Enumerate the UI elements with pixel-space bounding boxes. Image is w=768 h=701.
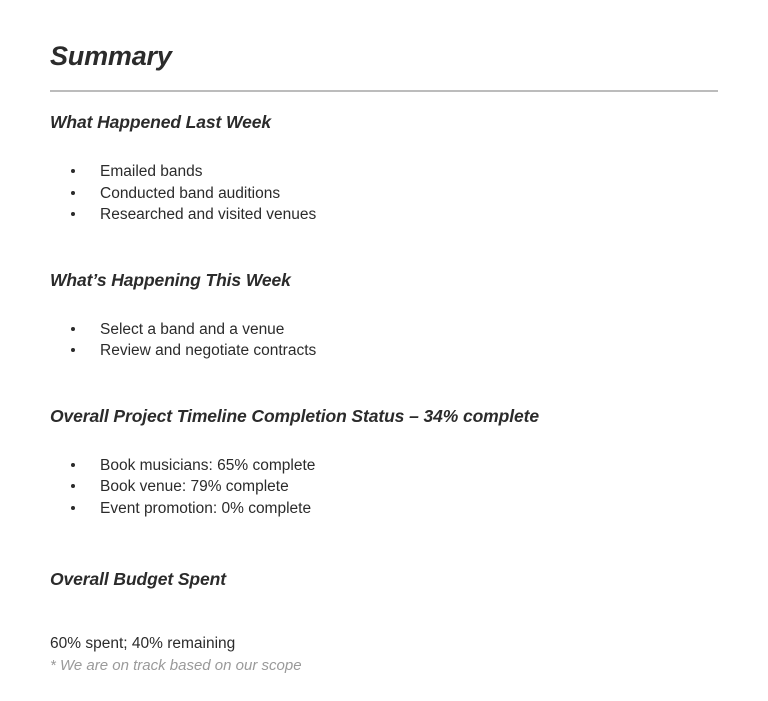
budget-footnote: * We are on track based on our scope bbox=[50, 655, 730, 676]
list-item: Event promotion: 0% complete bbox=[50, 499, 730, 520]
list-item-label: Conducted band auditions bbox=[100, 185, 280, 202]
list-item-label: Select a band and a venue bbox=[100, 321, 284, 338]
list-item-label: Review and negotiate contracts bbox=[100, 342, 316, 359]
list-item: Book venue: 79% complete bbox=[50, 477, 730, 498]
section-whats-happening-this-week: What’s Happening This Week Select a band… bbox=[50, 270, 730, 362]
bullet-dot-icon bbox=[71, 191, 75, 195]
bullet-dot-icon bbox=[71, 327, 75, 331]
list-item-label: Book musicians: 65% complete bbox=[100, 457, 315, 474]
budget-summary-text: 60% spent; 40% remaining bbox=[50, 633, 730, 654]
bullet-dot-icon bbox=[71, 212, 75, 216]
section-heading: Overall Project Timeline Completion Stat… bbox=[50, 406, 730, 428]
section-heading: Overall Budget Spent bbox=[50, 569, 730, 591]
summary-document-page: Summary What Happened Last Week Emailed … bbox=[0, 0, 768, 701]
section-overall-budget-spent: Overall Budget Spent 60% spent; 40% rema… bbox=[50, 569, 730, 676]
bullet-dot-icon bbox=[71, 348, 75, 352]
list-item-label: Book venue: 79% complete bbox=[100, 478, 289, 495]
list-item-label: Emailed bands bbox=[100, 163, 203, 180]
list-item: Researched and visited venues bbox=[50, 205, 730, 226]
bullet-list: Select a band and a venue Review and neg… bbox=[50, 292, 730, 362]
bullet-dot-icon bbox=[71, 463, 75, 467]
list-item: Conducted band auditions bbox=[50, 184, 730, 205]
section-heading: What Happened Last Week bbox=[50, 112, 730, 134]
bullet-dot-icon bbox=[71, 484, 75, 488]
list-item: Book musicians: 65% complete bbox=[50, 456, 730, 477]
section-heading: What’s Happening This Week bbox=[50, 270, 730, 292]
list-item: Select a band and a venue bbox=[50, 320, 730, 341]
list-item-label: Event promotion: 0% complete bbox=[100, 500, 311, 517]
budget-block: 60% spent; 40% remaining * We are on tra… bbox=[50, 633, 730, 676]
section-what-happened-last-week: What Happened Last Week Emailed bands Co… bbox=[50, 112, 730, 225]
list-item: Emailed bands bbox=[50, 162, 730, 183]
bullet-dot-icon bbox=[71, 169, 75, 173]
section-overall-project-timeline: Overall Project Timeline Completion Stat… bbox=[50, 406, 730, 519]
bullet-list: Emailed bands Conducted band auditions R… bbox=[50, 134, 730, 226]
title-divider bbox=[50, 90, 718, 92]
page-title: Summary bbox=[50, 0, 730, 72]
list-item: Review and negotiate contracts bbox=[50, 341, 730, 362]
list-item-label: Researched and visited venues bbox=[100, 206, 316, 223]
bullet-dot-icon bbox=[71, 506, 75, 510]
bullet-list: Book musicians: 65% complete Book venue:… bbox=[50, 428, 730, 520]
